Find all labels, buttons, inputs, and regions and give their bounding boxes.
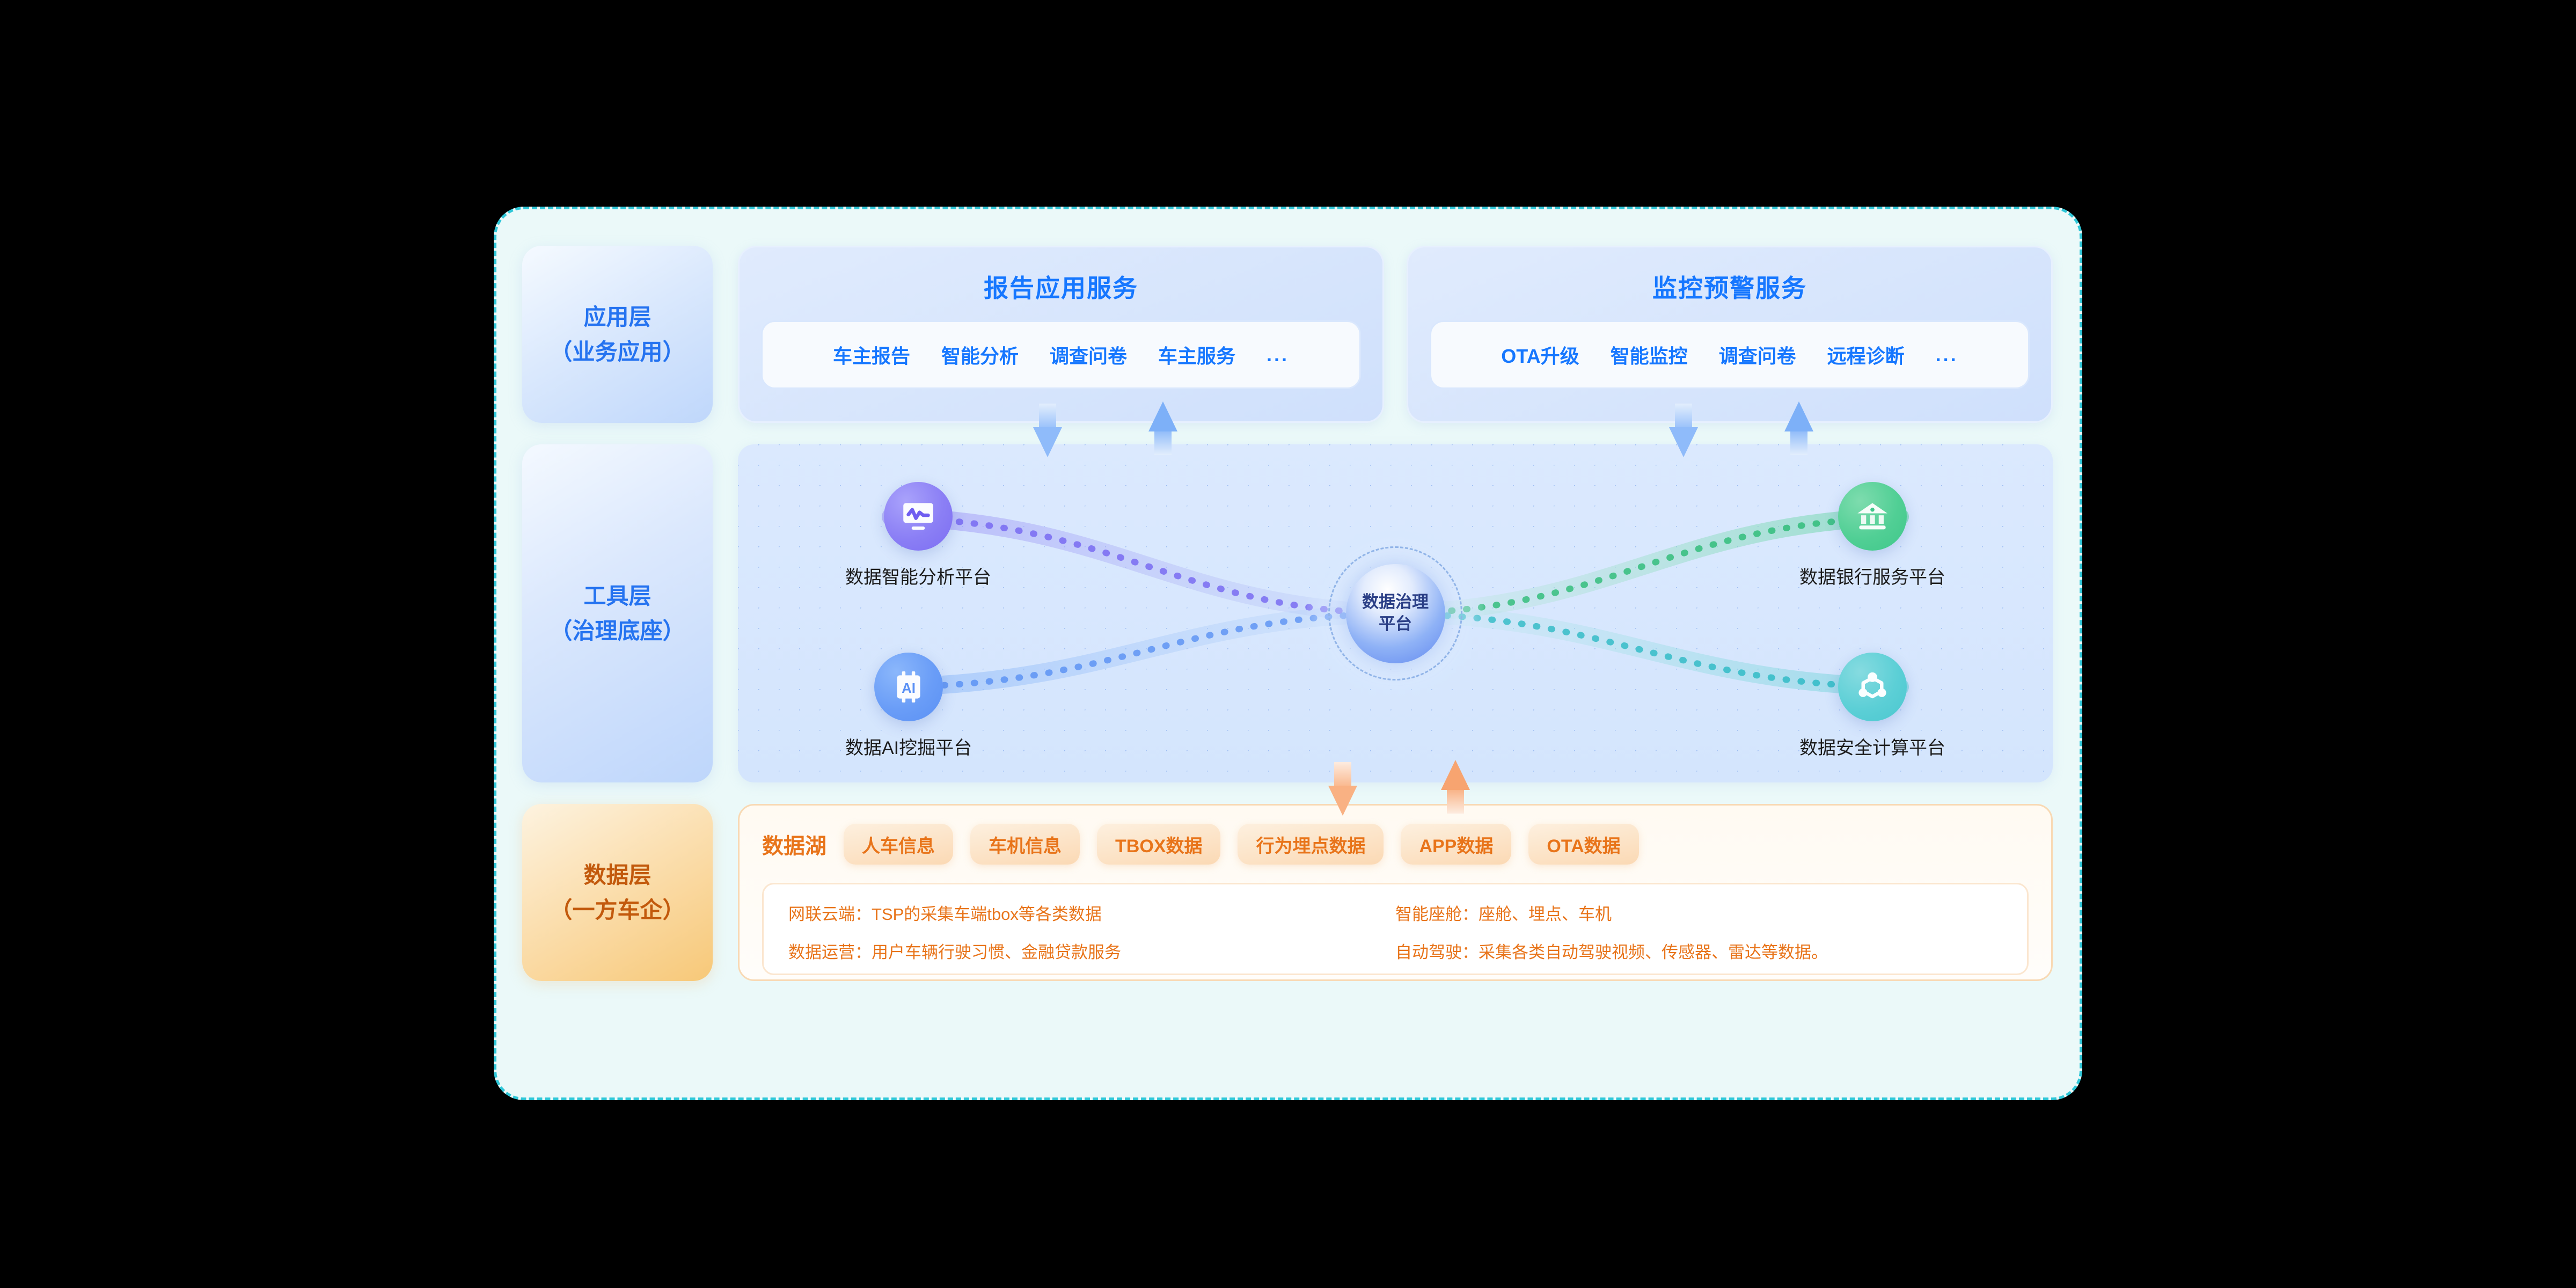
arrow-up-right-1 (1784, 401, 1813, 455)
svg-text:AI: AI (902, 681, 916, 696)
service-item-ota-upgrade[interactable]: OTA升级 (1501, 341, 1579, 369)
node-data-ai-mining-platform[interactable]: AI 数据AI挖掘平台 (845, 653, 972, 759)
arrow-head (1784, 401, 1813, 431)
data-lake-panel: 数据湖 人车信息 车机信息 TBOX数据 行为埋点数据 APP数据 OTA数据 … (738, 804, 2053, 981)
layer-chip-data: 数据层 （一方车企） (522, 804, 713, 981)
arrow-head (1033, 427, 1062, 457)
monitor-waveform-icon (884, 482, 953, 551)
node-data-bank-platform[interactable]: 数据银行服务平台 (1799, 482, 1945, 589)
node-data-secure-computing-platform[interactable]: 数据安全计算平台 (1799, 653, 1945, 759)
note-data-operation: 数据运营：用户车辆行驶习惯、金融贷款服务 (788, 939, 1395, 963)
arrow-head (1148, 401, 1177, 431)
hub-title-line2: 平台 (1379, 613, 1412, 635)
service-item-more[interactable]: ... (1267, 343, 1289, 366)
service-card-report[interactable]: 报告应用服务 车主报告 智能分析 调查问卷 车主服务 ... (738, 246, 1384, 423)
arrow-down-left-1 (1033, 404, 1062, 457)
service-card-monitor[interactable]: 监控预警服务 OTA升级 智能监控 调查问卷 远程诊断 ... (1407, 246, 2053, 423)
arrow-down-data (1328, 762, 1357, 816)
lake-pill-tbox[interactable]: TBOX数据 (1097, 824, 1220, 865)
data-lake-notes-left: 网联云端：TSP的采集车端tbox等各类数据 数据运营：用户车辆行驶习惯、金融贷… (788, 901, 1395, 957)
layer-chip-application-name: 应用层 (583, 299, 651, 334)
lake-pill-ota[interactable]: OTA数据 (1528, 824, 1638, 865)
service-item-questionnaire-2[interactable]: 调查问卷 (1719, 341, 1796, 369)
service-item-remote-diagnosis[interactable]: 远程诊断 (1827, 341, 1905, 369)
layer-chip-data-name: 数据层 (583, 858, 651, 892)
hub-title-line1: 数据治理 (1362, 591, 1429, 613)
data-lake-title: 数据湖 (762, 829, 826, 860)
arrow-up-left-1 (1148, 401, 1177, 455)
arrow-head (1669, 427, 1698, 457)
bank-icon (1838, 482, 1907, 551)
service-item-more-2[interactable]: ... (1936, 343, 1958, 366)
service-item-questionnaire[interactable]: 调查问卷 (1050, 341, 1127, 369)
layer-chip-application-sub: （业务应用） (550, 334, 685, 369)
secure-node-glyph (1853, 667, 1892, 707)
service-card-monitor-title: 监控预警服务 (1652, 269, 1807, 304)
ai-chip-icon: AI (874, 653, 943, 721)
layer-chip-tool-sub: （治理底座） (550, 613, 685, 648)
service-card-report-title: 报告应用服务 (984, 269, 1138, 304)
lake-pill-behavior-tracking[interactable]: 行为埋点数据 (1238, 824, 1384, 865)
node-data-bank-platform-label: 数据银行服务平台 (1799, 562, 1945, 589)
layer-chip-tool-name: 工具层 (583, 579, 651, 613)
note-cloud-connected: 网联云端：TSP的采集车端tbox等各类数据 (788, 901, 1395, 925)
data-lake-header: 数据湖 人车信息 车机信息 TBOX数据 行为埋点数据 APP数据 OTA数据 (762, 824, 2029, 865)
layer-chip-data-sub: （一方车企） (550, 892, 685, 927)
secure-node-icon (1838, 653, 1907, 721)
monitor-waveform-glyph (898, 496, 938, 536)
note-autonomous-driving: 自动驾驶：采集各类自动驾驶视频、传感器、雷达等数据。 (1395, 939, 2002, 963)
layer-chip-tool: 工具层 （治理底座） (522, 444, 713, 782)
arrow-up-data (1441, 760, 1470, 814)
lake-pill-vehicle-machine[interactable]: 车机信息 (970, 824, 1080, 865)
architecture-container: 应用层 （业务应用） 工具层 （治理底座） 数据层 （一方车企） 报告应用服务 … (494, 207, 2082, 1100)
service-card-report-items: 车主报告 智能分析 调查问卷 车主服务 ... (761, 320, 1361, 389)
service-item-smart-monitor[interactable]: 智能监控 (1611, 341, 1688, 369)
service-item-owner-service[interactable]: 车主服务 (1158, 341, 1235, 369)
data-lake-notes: 网联云端：TSP的采集车端tbox等各类数据 数据运营：用户车辆行驶习惯、金融贷… (762, 883, 2029, 975)
service-item-owner-report[interactable]: 车主报告 (833, 341, 910, 369)
node-data-secure-computing-platform-label: 数据安全计算平台 (1799, 733, 1945, 759)
service-item-smart-analysis[interactable]: 智能分析 (941, 341, 1019, 369)
arrow-head (1328, 786, 1357, 816)
central-hub[interactable]: 数据治理 平台 (1307, 525, 1484, 702)
layer-chip-application: 应用层 （业务应用） (522, 246, 713, 423)
lake-pill-person-vehicle[interactable]: 人车信息 (844, 824, 953, 865)
tool-layer-panel: 数据治理 平台 数据智能分析平台 (738, 444, 2053, 782)
lake-pill-app[interactable]: APP数据 (1401, 824, 1511, 865)
arrow-head (1441, 760, 1470, 790)
node-data-analysis-platform-label: 数据智能分析平台 (845, 562, 991, 589)
data-lake-notes-right: 智能座舱：座舱、埋点、车机 自动驾驶：采集各类自动驾驶视频、传感器、雷达等数据。 (1395, 901, 2002, 957)
diagram-canvas: 应用层 （业务应用） 工具层 （治理底座） 数据层 （一方车企） 报告应用服务 … (0, 0, 2576, 1288)
arrow-down-right-1 (1669, 404, 1698, 457)
node-data-analysis-platform[interactable]: 数据智能分析平台 (845, 482, 991, 589)
bank-glyph (1853, 496, 1892, 536)
ai-chip-glyph: AI (889, 667, 928, 707)
note-smart-cockpit: 智能座舱：座舱、埋点、车机 (1395, 901, 2002, 925)
application-layer-row: 报告应用服务 车主报告 智能分析 调查问卷 车主服务 ... 监控预警服务 OT… (738, 246, 2053, 423)
hub-core: 数据治理 平台 (1346, 564, 1445, 663)
node-data-ai-mining-platform-label: 数据AI挖掘平台 (845, 733, 972, 759)
service-card-monitor-items: OTA升级 智能监控 调查问卷 远程诊断 ... (1430, 320, 2030, 389)
